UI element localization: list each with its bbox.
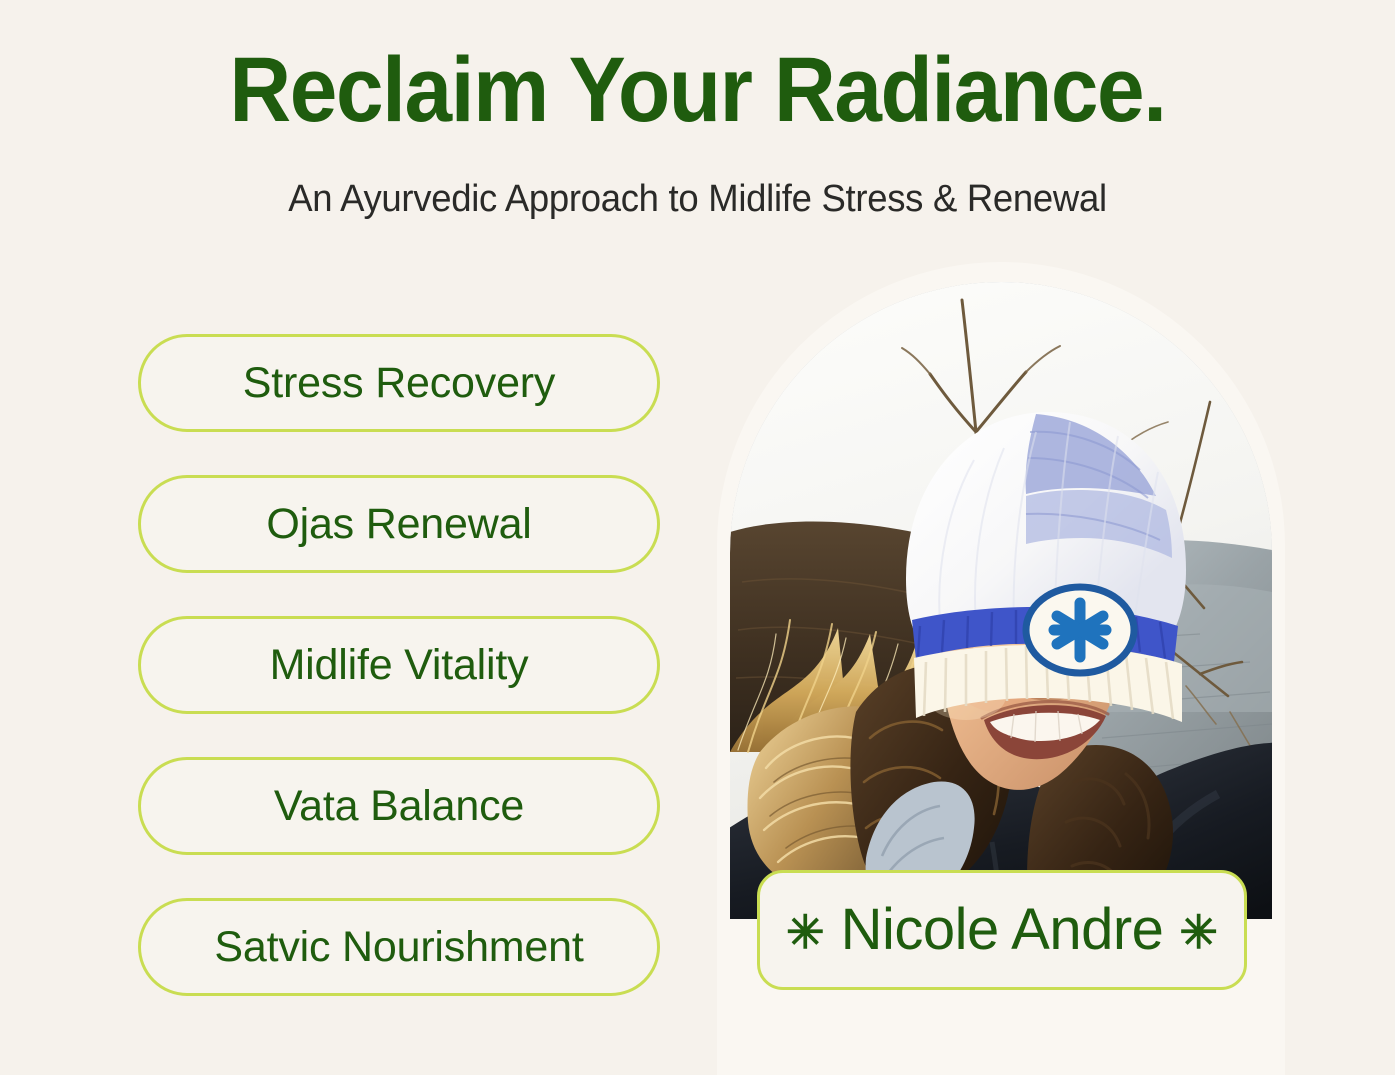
topic-pill-satvic-nourishment[interactable]: Satvic Nourishment: [138, 898, 660, 996]
topic-pill-label: Midlife Vitality: [270, 644, 529, 687]
topic-pill-label: Ojas Renewal: [266, 503, 531, 546]
profile-photo-frame: [730, 282, 1272, 919]
topic-pill-midlife-vitality[interactable]: Midlife Vitality: [138, 616, 660, 714]
topic-pill-vata-balance[interactable]: Vata Balance: [138, 757, 660, 855]
topic-pill-list: Stress Recovery Ojas Renewal Midlife Vit…: [138, 334, 660, 996]
asterisk-icon-right: ✳: [1179, 909, 1218, 955]
topic-pill-label: Stress Recovery: [243, 362, 555, 405]
presenter-name-badge[interactable]: ✳ Nicole Andre ✳: [757, 870, 1247, 990]
profile-card: ✳ Nicole Andre ✳: [717, 262, 1285, 1075]
topic-pill-label: Vata Balance: [274, 785, 524, 828]
asterisk-icon-left: ✳: [786, 909, 825, 955]
profile-photo: [730, 282, 1272, 919]
page-header: Reclaim Your Radiance. An Ayurvedic Appr…: [0, 0, 1395, 218]
topic-pill-ojas-renewal[interactable]: Ojas Renewal: [138, 475, 660, 573]
topic-pill-label: Satvic Nourishment: [214, 926, 583, 969]
page-title: Reclaim Your Radiance.: [49, 44, 1346, 136]
presenter-name: Nicole Andre: [841, 901, 1164, 959]
page-subtitle: An Ayurvedic Approach to Midlife Stress …: [28, 136, 1367, 218]
promo-page: Reclaim Your Radiance. An Ayurvedic Appr…: [0, 0, 1395, 1075]
topic-pill-stress-recovery[interactable]: Stress Recovery: [138, 334, 660, 432]
